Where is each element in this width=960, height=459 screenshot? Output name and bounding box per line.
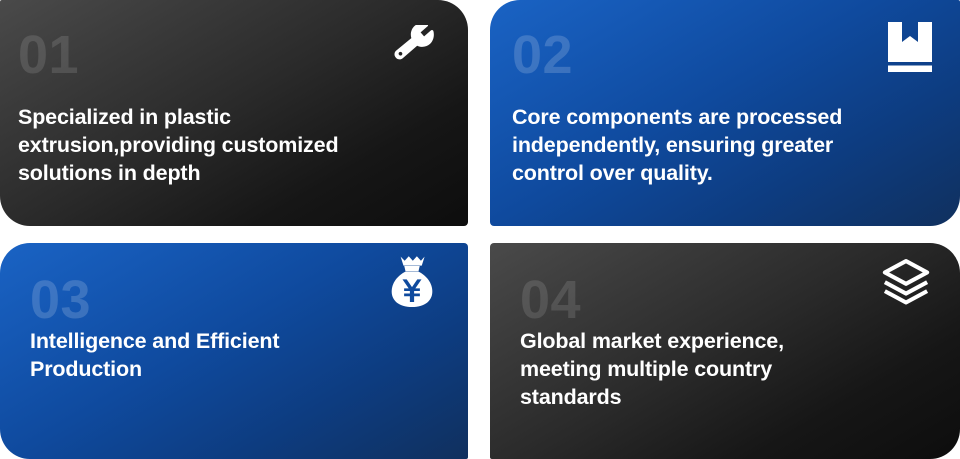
card-description: Specialized in plastic extrusion,providi… bbox=[18, 104, 438, 188]
feature-card-02[interactable]: 02 Core components are processed indepen… bbox=[490, 0, 960, 226]
book-bookmark-icon bbox=[884, 22, 936, 74]
feature-card-grid: 01 Specialized in plastic extrusion,prov… bbox=[0, 0, 960, 459]
feature-card-01[interactable]: 01 Specialized in plastic extrusion,prov… bbox=[0, 0, 468, 226]
layers-stack-icon bbox=[880, 257, 932, 309]
card-index-number: 03 bbox=[30, 273, 91, 327]
feature-card-04[interactable]: 04 Global market experience, meeting mul… bbox=[490, 243, 960, 459]
card-index-number: 01 bbox=[18, 28, 79, 82]
card-content: 03 Intelligence and Efficient Production bbox=[0, 243, 468, 459]
card-description: Intelligence and Efficient Production bbox=[30, 328, 428, 384]
card-description: Core components are processed independen… bbox=[512, 104, 952, 188]
wrench-icon bbox=[390, 24, 442, 76]
card-content: 04 Global market experience, meeting mul… bbox=[490, 243, 960, 459]
money-bag-yen-icon bbox=[386, 255, 438, 307]
card-index-number: 04 bbox=[520, 273, 581, 327]
card-description: Global market experience, meeting multip… bbox=[520, 328, 920, 412]
card-content: 01 Specialized in plastic extrusion,prov… bbox=[0, 0, 468, 226]
feature-card-03[interactable]: 03 Intelligence and Efficient Production bbox=[0, 243, 468, 459]
card-index-number: 02 bbox=[512, 28, 573, 82]
card-content: 02 Core components are processed indepen… bbox=[490, 0, 960, 226]
